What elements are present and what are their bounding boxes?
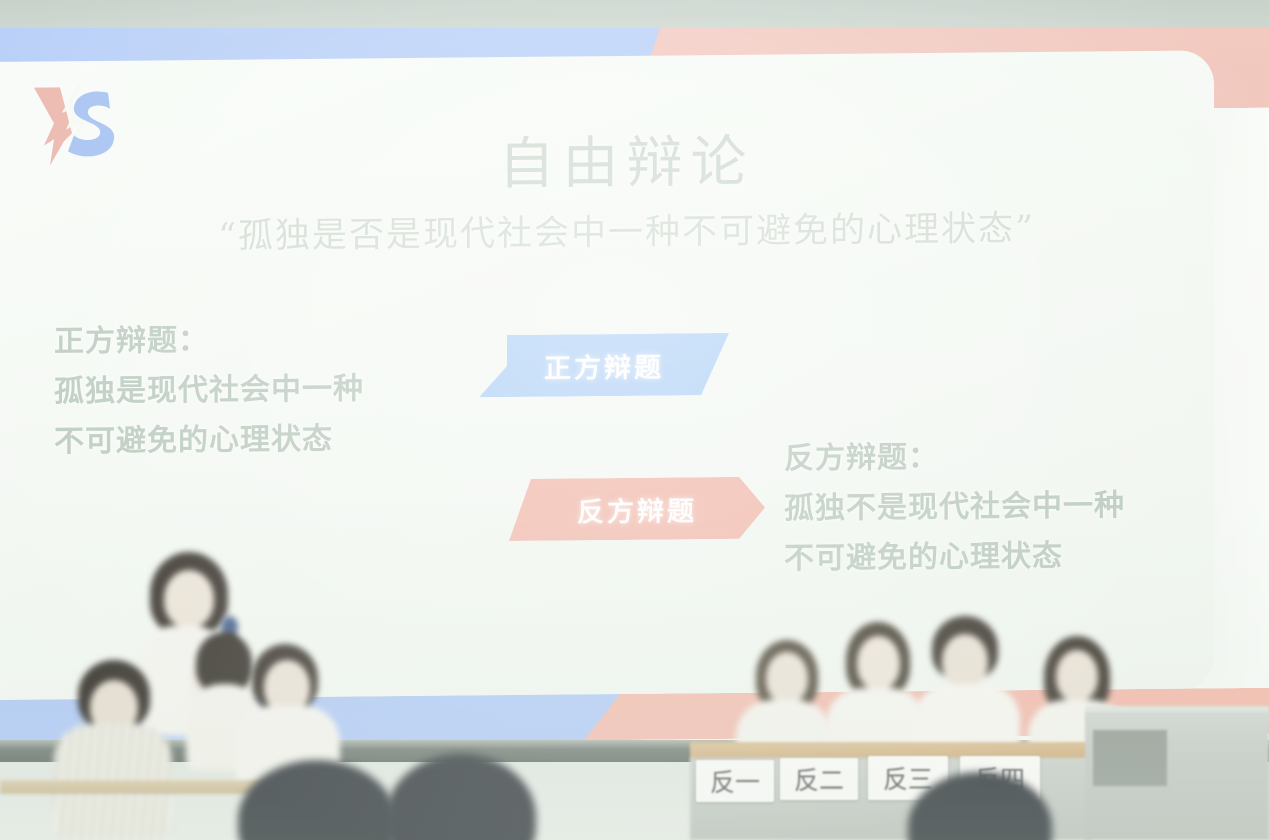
negative-text-block: 反方辩题： 孤独不是现代社会中一种 不可避免的心理状态 xyxy=(784,430,1204,584)
affirmative-heading: 正方辩题： xyxy=(54,313,494,367)
nameplate-2-label: 反二 xyxy=(794,761,844,797)
negative-banner-label: 反方辩题 xyxy=(577,489,697,529)
slide-title: 自由辩论 xyxy=(0,112,1261,205)
affirmative-line-1: 孤独是现代社会中一种 xyxy=(54,363,494,417)
negative-heading: 反方辩题： xyxy=(784,430,1204,484)
negative-line-2: 不可避免的心理状态 xyxy=(784,530,1204,584)
negative-line-1: 孤独不是现代社会中一种 xyxy=(784,480,1204,534)
affirmative-text-block: 正方辩题： 孤独是现代社会中一种 不可避免的心理状态 xyxy=(54,313,494,467)
screenshot-root: 自由辩论 “孤独是否是现代社会中一种不可避免的心理状态” 正方辩题： 孤独是现代… xyxy=(0,0,1269,840)
affirmative-line-2: 不可避免的心理状态 xyxy=(54,413,494,467)
nameplate-1: 反一 xyxy=(696,760,774,802)
affirmative-banner: 正方辩题 xyxy=(479,333,729,397)
nameplate-1-label: 反一 xyxy=(710,763,760,799)
negative-banner: 反方辩题 xyxy=(509,477,765,541)
nameplate-2: 反二 xyxy=(780,758,858,800)
cabinet-opening xyxy=(1093,730,1167,786)
affirmative-banner-label: 正方辩题 xyxy=(544,345,664,385)
